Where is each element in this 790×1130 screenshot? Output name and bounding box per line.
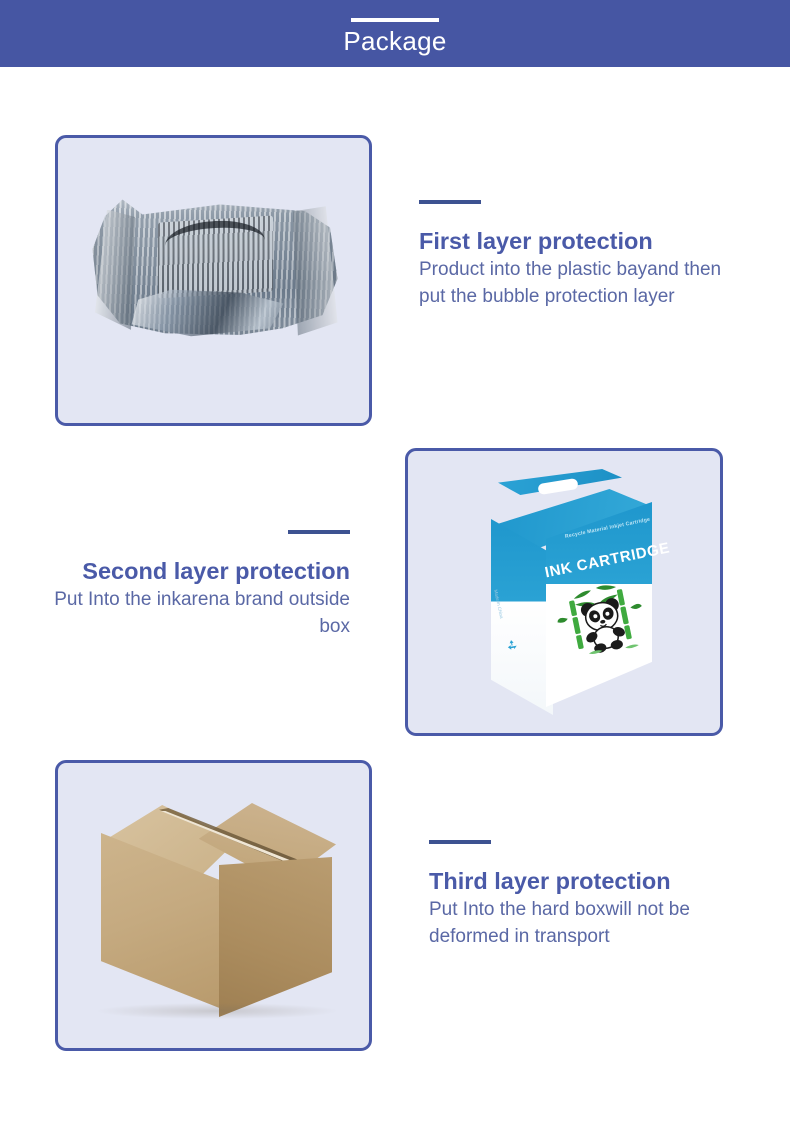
first-layer-text-block: First layer protection Product into the … bbox=[419, 200, 739, 310]
ink-cartridge-box-illustration: Recycle Material Inkjet Cartridge INK CA… bbox=[486, 461, 656, 726]
second-layer-image-card: Recycle Material Inkjet Cartridge INK CA… bbox=[405, 448, 723, 736]
third-layer-text-block: Third layer protection Put Into the hard… bbox=[429, 840, 749, 950]
page-title: Package bbox=[0, 26, 790, 56]
third-layer-accent-dash bbox=[429, 840, 491, 844]
third-layer-heading: Third layer protection bbox=[429, 866, 749, 896]
first-layer-image-card bbox=[55, 135, 372, 426]
third-layer-body: Put Into the hard boxwill not be deforme… bbox=[429, 896, 749, 950]
header-accent-dash bbox=[351, 18, 439, 22]
second-layer-accent-dash bbox=[288, 530, 350, 534]
page-header-banner: Package bbox=[0, 0, 790, 67]
third-layer-image-card bbox=[55, 760, 372, 1051]
second-layer-heading: Second layer protection bbox=[30, 556, 350, 586]
first-layer-heading: First layer protection bbox=[419, 226, 739, 256]
bag-fold-right bbox=[293, 206, 338, 338]
second-layer-text-block: Second layer protection Put Into the ink… bbox=[30, 530, 350, 640]
plastic-bag-illustration bbox=[90, 193, 340, 358]
carton-illustration bbox=[88, 795, 344, 1021]
first-layer-body: Product into the plastic bayand then put… bbox=[419, 256, 739, 310]
plastic-bag-photo bbox=[58, 138, 369, 423]
second-layer-body: Put Into the inkarena brand outside box bbox=[30, 586, 350, 640]
carton-side-panel bbox=[219, 857, 332, 1017]
cardboard-carton-photo bbox=[58, 763, 369, 1048]
ink-cartridge-box-photo: Recycle Material Inkjet Cartridge INK CA… bbox=[408, 451, 720, 733]
package-page: Package First layer protection Product i… bbox=[0, 0, 790, 1130]
first-layer-accent-dash bbox=[419, 200, 481, 204]
carton-shadow bbox=[98, 1003, 336, 1019]
recycle-icon bbox=[505, 638, 519, 652]
